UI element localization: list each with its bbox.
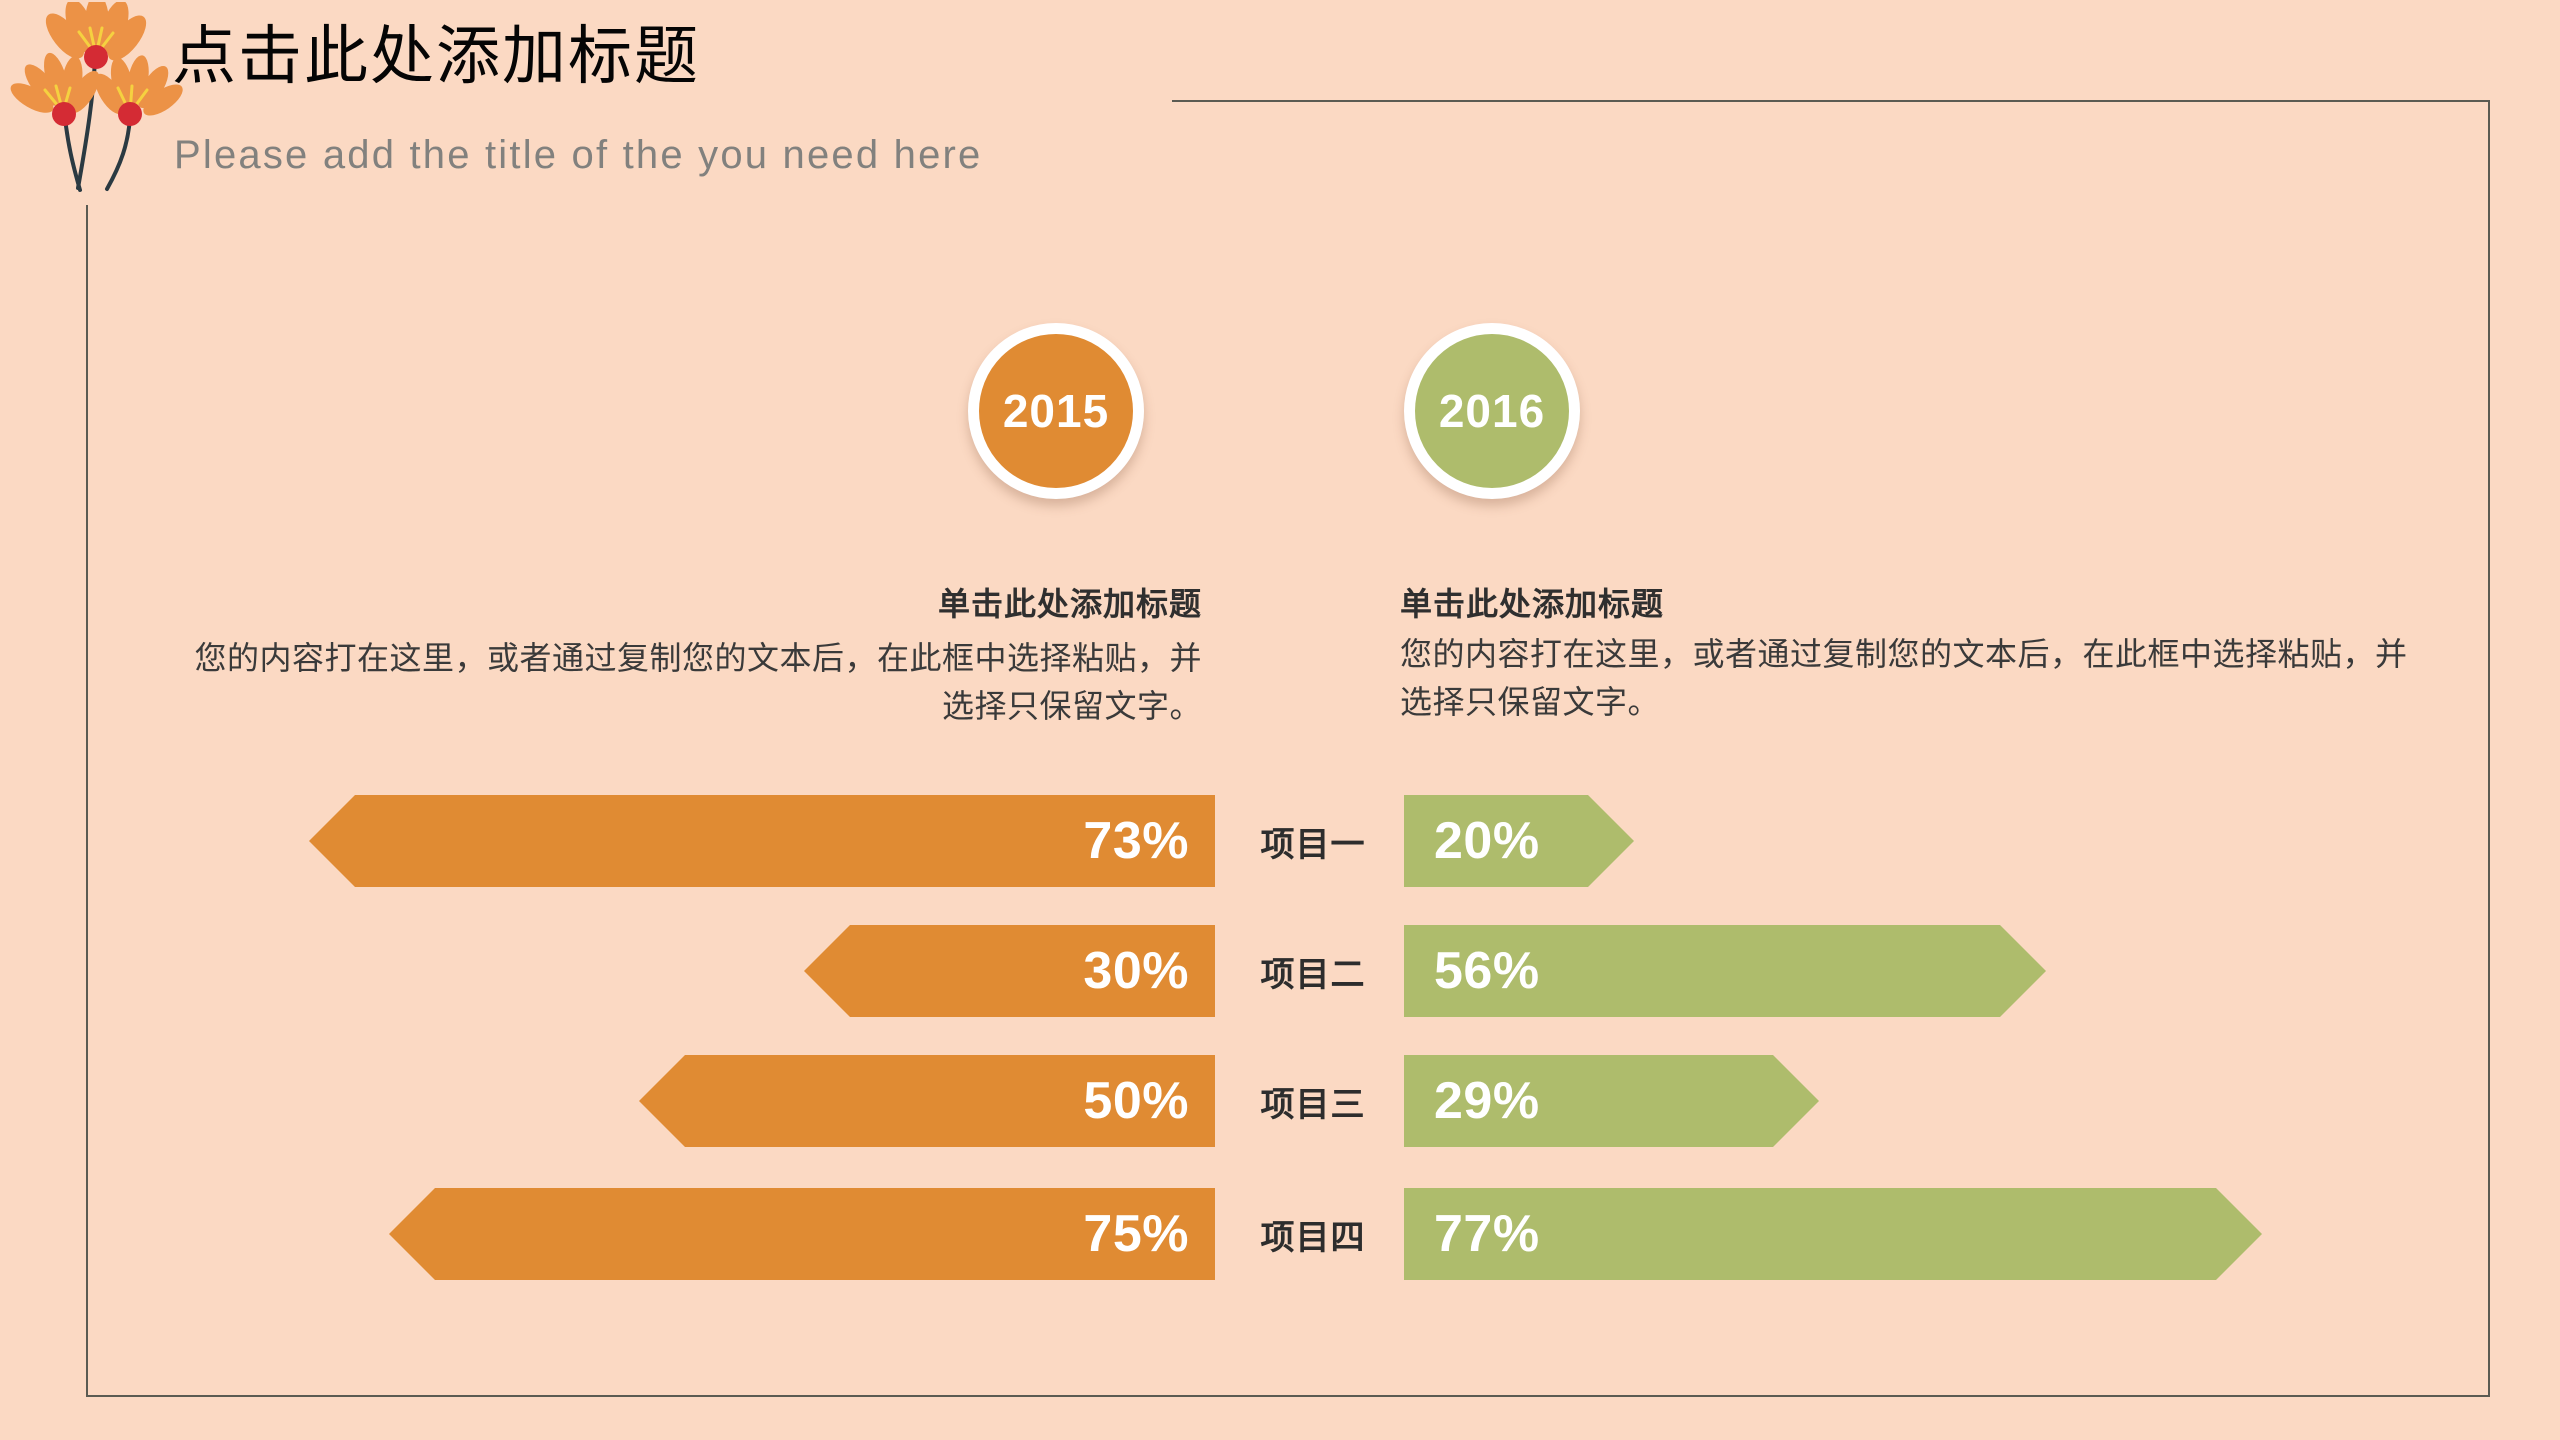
bar-category-label-2: 项目二 bbox=[1228, 925, 1398, 1017]
description-column-2016: 单击此处添加标题 您的内容打在这里，或者通过复制您的文本后，在此框中选择粘贴，并… bbox=[1400, 585, 2420, 726]
year-badge-2015[interactable]: 2015 bbox=[968, 323, 1144, 499]
bar-2015-item-4[interactable]: 75% bbox=[389, 1188, 1215, 1280]
bar-right-wrapper: 56% bbox=[1404, 925, 2046, 1017]
year-badge-2016[interactable]: 2016 bbox=[1404, 323, 1580, 499]
bar-2015-item-2[interactable]: 30% bbox=[804, 925, 1215, 1017]
description-heading-2015: 单击此处添加标题 bbox=[182, 585, 1202, 624]
bar-category-label-1: 项目一 bbox=[1228, 795, 1398, 887]
year-badge-2016-label: 2016 bbox=[1439, 388, 1545, 434]
bar-row: 50% 项目三 29% bbox=[0, 1055, 2560, 1147]
description-heading-2016: 单击此处添加标题 bbox=[1400, 585, 2420, 624]
bar-left-wrapper: 30% bbox=[804, 925, 1215, 1017]
bar-2016-item-4[interactable]: 77% bbox=[1404, 1188, 2262, 1280]
bar-right-wrapper: 77% bbox=[1404, 1188, 2262, 1280]
description-body-2015: 您的内容打在这里，或者通过复制您的文本后，在此框中选择粘贴，并选择只保留文字。 bbox=[182, 634, 1202, 730]
frame-border-top bbox=[1172, 100, 2490, 102]
year-badge-2015-label: 2015 bbox=[1003, 388, 1109, 434]
flowers-icon bbox=[8, 2, 184, 198]
bar-value-2016-item-1: 20% bbox=[1434, 815, 1540, 867]
bar-row: 30% 项目二 56% bbox=[0, 925, 2560, 1017]
bar-value-2015-item-4: 75% bbox=[1083, 1208, 1189, 1260]
bar-category-label-4: 项目四 bbox=[1228, 1188, 1398, 1280]
page-subtitle: Please add the title of the you need her… bbox=[174, 135, 983, 175]
bar-value-2016-item-2: 56% bbox=[1434, 945, 1540, 997]
bar-left-wrapper: 73% bbox=[309, 795, 1215, 887]
page-title: 点击此处添加标题 bbox=[172, 24, 700, 88]
description-column-2015: 单击此处添加标题 您的内容打在这里，或者通过复制您的文本后，在此框中选择粘贴，并… bbox=[182, 585, 1202, 730]
bar-2015-item-3[interactable]: 50% bbox=[639, 1055, 1215, 1147]
bar-value-2015-item-3: 50% bbox=[1083, 1075, 1189, 1127]
bar-value-2016-item-4: 77% bbox=[1434, 1208, 1540, 1260]
description-body-2016: 您的内容打在这里，或者通过复制您的文本后，在此框中选择粘贴，并选择只保留文字。 bbox=[1400, 630, 2420, 726]
bar-row: 73% 项目一 20% bbox=[0, 795, 2560, 887]
bar-2016-item-2[interactable]: 56% bbox=[1404, 925, 2046, 1017]
page-header: 点击此处添加标题 Please add the title of the you… bbox=[0, 0, 1200, 220]
bar-left-wrapper: 50% bbox=[639, 1055, 1215, 1147]
bar-2015-item-1[interactable]: 73% bbox=[309, 795, 1215, 887]
bar-value-2015-item-1: 73% bbox=[1083, 815, 1189, 867]
bar-right-wrapper: 29% bbox=[1404, 1055, 1819, 1147]
frame-border-bottom bbox=[86, 1395, 2490, 1397]
bar-value-2016-item-3: 29% bbox=[1434, 1075, 1540, 1127]
diverging-bar-chart: 73% 项目一 20% 30% 项目二 56% 50% 项目三 bbox=[0, 795, 2560, 1355]
bar-2016-item-3[interactable]: 29% bbox=[1404, 1055, 1819, 1147]
bar-value-2015-item-2: 30% bbox=[1083, 945, 1189, 997]
bar-row: 75% 项目四 77% bbox=[0, 1188, 2560, 1280]
bar-left-wrapper: 75% bbox=[389, 1188, 1215, 1280]
bar-right-wrapper: 20% bbox=[1404, 795, 1634, 887]
bar-2016-item-1[interactable]: 20% bbox=[1404, 795, 1634, 887]
bar-category-label-3: 项目三 bbox=[1228, 1055, 1398, 1147]
